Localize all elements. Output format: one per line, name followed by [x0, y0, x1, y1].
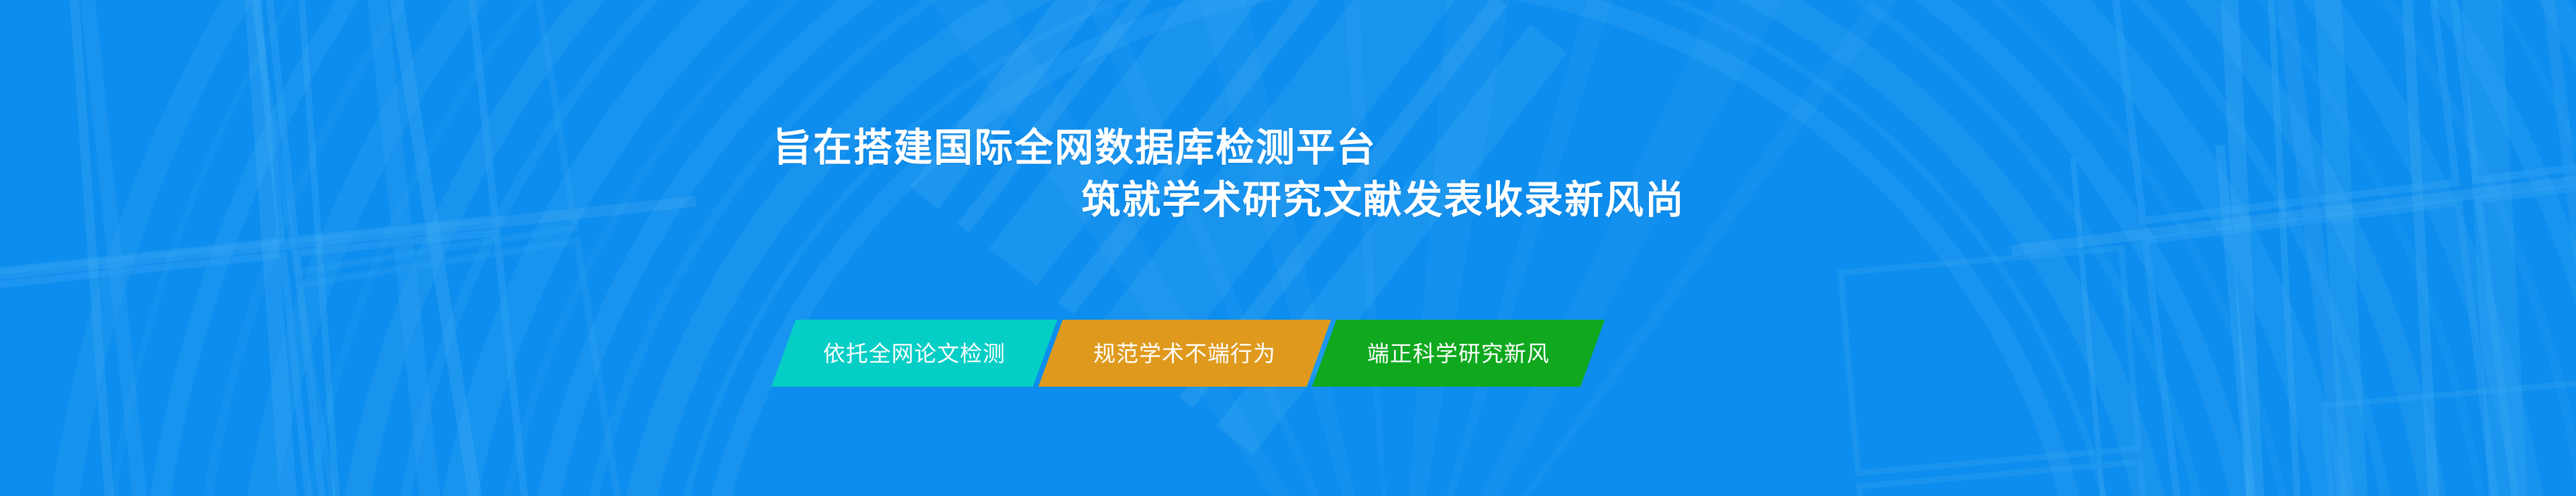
badge-guifan-xueshu-buduan[interactable]: 规范学术不端行为	[1038, 320, 1331, 387]
badge-duanzheng-kexue-yanjiu[interactable]: 端正科学研究新风	[1312, 320, 1605, 387]
badge-label-3: 端正科学研究新风	[1367, 343, 1550, 365]
badge-row: 依托全网论文检测 规范学术不端行为 端正科学研究新风	[784, 320, 1593, 387]
headline-line-2: 筑就学术研究文献发表收录新风尚	[0, 174, 2576, 227]
headline-line-1: 旨在搭建国际全网数据库检测平台	[0, 122, 2576, 174]
badge-label-1: 依托全网论文检测	[823, 343, 1006, 365]
headline-block: 旨在搭建国际全网数据库检测平台 筑就学术研究文献发表收录新风尚	[0, 122, 2576, 227]
badge-quanwang-lunwen-jiance[interactable]: 依托全网论文检测	[771, 320, 1057, 387]
banner-content: 旨在搭建国际全网数据库检测平台 筑就学术研究文献发表收录新风尚 依托全网论文检测…	[0, 0, 2576, 496]
badge-label-2: 规范学术不端行为	[1093, 343, 1276, 365]
promo-banner: 旨在搭建国际全网数据库检测平台 筑就学术研究文献发表收录新风尚 依托全网论文检测…	[0, 0, 2576, 496]
